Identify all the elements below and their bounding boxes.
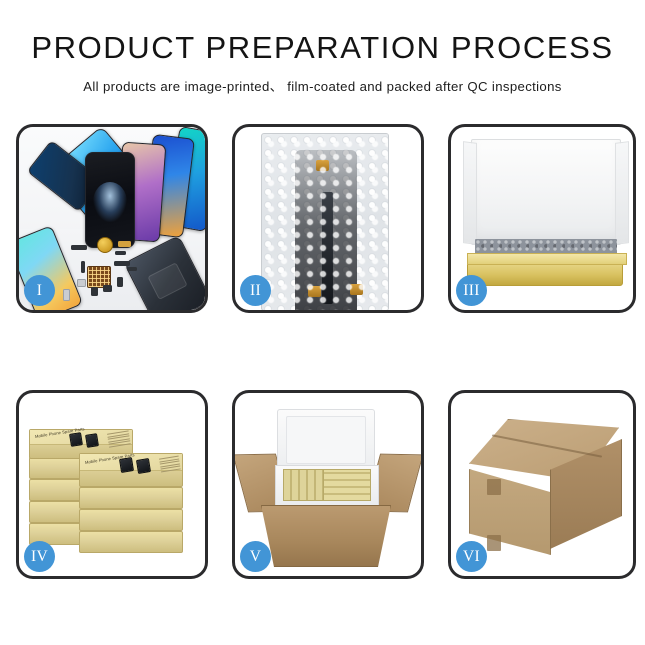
vibration-motor-icon [97,237,113,253]
part-connector-icon [81,261,85,273]
page-subtitle: All products are image-printed、 film-coa… [0,76,645,95]
white-foam-lid-icon [471,139,621,245]
part-camera-icon [103,285,112,292]
box-spec-lines [159,456,181,474]
process-step-2: II [232,124,424,313]
yellow-inner-box-icon [467,261,623,286]
part-gold-flex-icon [118,241,131,247]
process-step-6: VI [448,390,636,579]
part-bracket-icon [114,261,130,266]
stacked-box [79,509,183,531]
stacked-box-printed: Mobile Phone Spare Parts [79,453,183,487]
stacked-box [79,487,183,509]
step-badge-4: IV [24,541,55,572]
carton-front-panel-icon [261,505,391,567]
process-step-5: V [232,390,424,579]
box-screen-thumb-icon [136,458,151,474]
part-speaker-icon [91,287,98,296]
carton-tape-top-icon [487,479,501,495]
item-flex-cable-icon [322,192,333,304]
poster-root: PRODUCT PREPARATION PROCESS All products… [0,0,645,645]
box-screen-thumb-icon [69,432,83,447]
item-gold-tab-right-icon [350,284,363,295]
inner-boxes-stack-icon [323,469,371,501]
item-gold-tab-left-icon [308,286,321,297]
carton-left-face-icon [469,469,551,555]
box-spec-lines [107,430,131,449]
poster-header: PRODUCT PREPARATION PROCESS All products… [0,0,645,95]
process-step-4: Mobile Phone Spare Parts Mobile Phone Sp… [16,390,208,579]
process-step-1: I [16,124,208,313]
carton-tape-bottom-icon [487,535,501,551]
process-grid: I II III [16,124,640,579]
part-antenna-icon [127,267,137,271]
step-badge-2: II [240,275,271,306]
part-button-icon [117,277,123,287]
step-badge-3: III [456,275,487,306]
part-metal-shield-icon [77,279,86,287]
step-badge-1: I [24,275,55,306]
part-sim-tray-icon [63,289,70,301]
bubble-wrap-bag-icon [261,133,389,310]
process-step-3: III [448,124,636,313]
foam-lid-open-icon [277,409,375,471]
part-battery-strip-icon [71,245,87,250]
box-screen-thumb-icon [119,457,134,473]
box-screen-thumb-icon [85,433,99,448]
item-gold-tab-top-icon [316,160,329,171]
step-badge-5: V [240,541,271,572]
wallpaper-jellyfish-icon [93,182,127,222]
part-flex-cable-icon [115,251,126,255]
phone-front-glass-icon [85,152,135,248]
step-badge-6: VI [456,541,487,572]
stacked-box [79,531,183,553]
page-title: PRODUCT PREPARATION PROCESS [0,32,645,63]
